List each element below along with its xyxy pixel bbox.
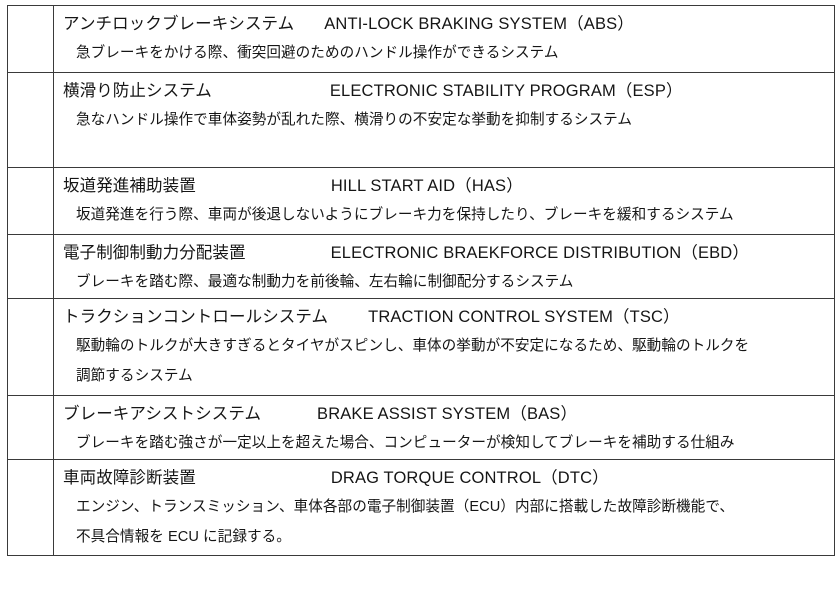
description-line: エンジン、トランスミッション、車体各部の電子制御装置（ECU）内部に搭載した故障… xyxy=(54,497,834,518)
term-line: 電子制御制動力分配装置ELECTRONIC BRAEKFORCE DISTRIB… xyxy=(54,242,834,264)
term-japanese: 車両故障診断装置 xyxy=(63,467,196,489)
term-japanese: 電子制御制動力分配装置 xyxy=(63,242,246,264)
table-body: アンチロックブレーキシステムANTI-LOCK BRAKING SYSTEM（A… xyxy=(8,6,835,556)
term-japanese: ブレーキアシストシステム xyxy=(63,403,261,425)
row-body: トラクションコントロールシステムTRACTION CONTROL SYSTEM（… xyxy=(54,299,834,395)
row-content-cell: アンチロックブレーキシステムANTI-LOCK BRAKING SYSTEM（A… xyxy=(54,6,835,73)
table-row: 坂道発進補助装置HILL START AID（HAS） 坂道発進を行う際、車両が… xyxy=(8,167,835,234)
term-line: 車両故障診断装置DRAG TORQUE CONTROL（DTC） xyxy=(54,467,834,489)
term-english: ELECTRONIC STABILITY PROGRAM（ESP） xyxy=(330,80,683,102)
description-line: 急なハンドル操作で車体姿勢が乱れた際、横滑りの不安定な挙動を抑制するシステム xyxy=(54,110,834,131)
term-japanese: 横滑り防止システム xyxy=(63,80,212,102)
term-line: ブレーキアシストシステムBRAKE ASSIST SYSTEM（BAS） xyxy=(54,403,834,425)
table-row: トラクションコントロールシステムTRACTION CONTROL SYSTEM（… xyxy=(8,298,835,395)
row-body: 車両故障診断装置DRAG TORQUE CONTROL（DTC） エンジン、トラ… xyxy=(54,460,834,556)
term-line: 横滑り防止システムELECTRONIC STABILITY PROGRAM（ES… xyxy=(54,80,834,102)
row-body: 横滑り防止システムELECTRONIC STABILITY PROGRAM（ES… xyxy=(54,73,834,167)
row-marker-cell xyxy=(8,167,54,234)
row-marker-cell xyxy=(8,298,54,395)
row-marker-cell xyxy=(8,395,54,459)
table-row: ブレーキアシストシステムBRAKE ASSIST SYSTEM（BAS） ブレー… xyxy=(8,395,835,459)
row-marker-cell xyxy=(8,72,54,167)
row-body: アンチロックブレーキシステムANTI-LOCK BRAKING SYSTEM（A… xyxy=(54,6,834,72)
term-english: BRAKE ASSIST SYSTEM（BAS） xyxy=(317,403,577,425)
row-content-cell: ブレーキアシストシステムBRAKE ASSIST SYSTEM（BAS） ブレー… xyxy=(54,395,835,459)
description-line: 急ブレーキをかける際、衝突回避のためのハンドル操作ができるシステム xyxy=(54,43,834,64)
description-line: 調節するシステム xyxy=(54,366,834,387)
description-line: 不具合情報を ECU に記録する。 xyxy=(54,527,834,548)
term-english: ANTI-LOCK BRAKING SYSTEM（ABS） xyxy=(324,13,634,35)
term-english: TRACTION CONTROL SYSTEM（TSC） xyxy=(368,306,680,328)
row-content-cell: 電子制御制動力分配装置ELECTRONIC BRAEKFORCE DISTRIB… xyxy=(54,234,835,298)
table-row: 横滑り防止システムELECTRONIC STABILITY PROGRAM（ES… xyxy=(8,72,835,167)
row-content-cell: トラクションコントロールシステムTRACTION CONTROL SYSTEM（… xyxy=(54,298,835,395)
description-line: ブレーキを踏む際、最適な制動力を前後輪、左右輪に制御配分するシステム xyxy=(54,272,834,293)
table-row: 電子制御制動力分配装置ELECTRONIC BRAEKFORCE DISTRIB… xyxy=(8,234,835,298)
description-line: 坂道発進を行う際、車両が後退しないようにブレーキ力を保持したり、ブレーキを緩和す… xyxy=(54,205,834,226)
term-english: HILL START AID（HAS） xyxy=(331,175,523,197)
document-root: アンチロックブレーキシステムANTI-LOCK BRAKING SYSTEM（A… xyxy=(0,0,840,591)
row-content-cell: 車両故障診断装置DRAG TORQUE CONTROL（DTC） エンジン、トラ… xyxy=(54,459,835,556)
safety-systems-table: アンチロックブレーキシステムANTI-LOCK BRAKING SYSTEM（A… xyxy=(7,5,835,556)
term-line: トラクションコントロールシステムTRACTION CONTROL SYSTEM（… xyxy=(54,306,834,328)
row-body: 電子制御制動力分配装置ELECTRONIC BRAEKFORCE DISTRIB… xyxy=(54,235,834,298)
row-body: 坂道発進補助装置HILL START AID（HAS） 坂道発進を行う際、車両が… xyxy=(54,168,834,234)
table-row: 車両故障診断装置DRAG TORQUE CONTROL（DTC） エンジン、トラ… xyxy=(8,459,835,556)
term-english: ELECTRONIC BRAEKFORCE DISTRIBUTION（EBD） xyxy=(331,242,749,264)
term-line: アンチロックブレーキシステムANTI-LOCK BRAKING SYSTEM（A… xyxy=(54,13,834,35)
row-content-cell: 横滑り防止システムELECTRONIC STABILITY PROGRAM（ES… xyxy=(54,72,835,167)
term-english: DRAG TORQUE CONTROL（DTC） xyxy=(331,467,609,489)
row-marker-cell xyxy=(8,234,54,298)
term-japanese: 坂道発進補助装置 xyxy=(63,175,196,197)
row-marker-cell xyxy=(8,6,54,73)
row-body: ブレーキアシストシステムBRAKE ASSIST SYSTEM（BAS） ブレー… xyxy=(54,396,834,459)
term-japanese: トラクションコントロールシステム xyxy=(63,306,328,328)
description-line: 駆動輪のトルクが大きすぎるとタイヤがスピンし、車体の挙動が不安定になるため、駆動… xyxy=(54,336,834,357)
term-japanese: アンチロックブレーキシステム xyxy=(63,13,294,35)
description-line: ブレーキを踏む強さが一定以上を超えた場合、コンピューターが検知してブレーキを補助… xyxy=(54,433,834,454)
term-line: 坂道発進補助装置HILL START AID（HAS） xyxy=(54,175,834,197)
row-content-cell: 坂道発進補助装置HILL START AID（HAS） 坂道発進を行う際、車両が… xyxy=(54,167,835,234)
row-marker-cell xyxy=(8,459,54,556)
table-row: アンチロックブレーキシステムANTI-LOCK BRAKING SYSTEM（A… xyxy=(8,6,835,73)
